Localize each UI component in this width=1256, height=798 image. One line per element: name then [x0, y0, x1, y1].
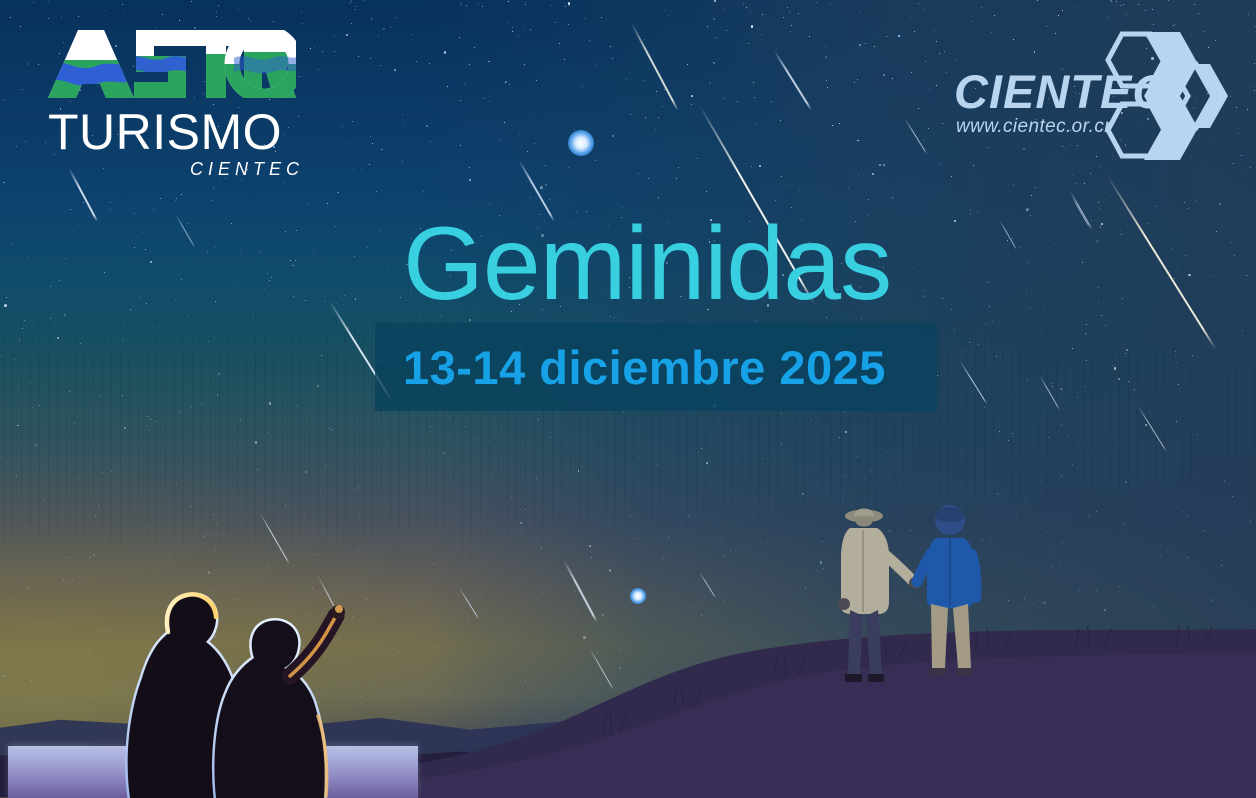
standing-person-blue — [917, 505, 976, 675]
astro-wordmark — [48, 30, 296, 98]
standing-couple — [832, 498, 1002, 690]
date-banner: 13-14 diciembre 2025 — [375, 323, 937, 411]
grass-tufts — [352, 559, 1256, 798]
seated-couple-silhouette — [112, 560, 362, 798]
astro-logo-cientec: CIENTEC — [48, 159, 308, 180]
poster-canvas: TURISMO CIENTEC CIENTEC www.cientec.or.c… — [0, 0, 1256, 798]
cientec-hexagon-mark — [1088, 26, 1234, 166]
bright-star — [568, 130, 594, 156]
headline-block: Geminidas — [375, 212, 955, 316]
astro-logo-turismo: TURISMO — [48, 107, 308, 157]
astroturismo-logo: TURISMO CIENTEC — [48, 30, 308, 190]
event-date: 13-14 diciembre 2025 — [375, 340, 886, 395]
page-title: Geminidas — [375, 212, 955, 316]
standing-person-hat — [838, 509, 921, 683]
cientec-logo: CIENTEC www.cientec.or.cr — [954, 26, 1234, 166]
